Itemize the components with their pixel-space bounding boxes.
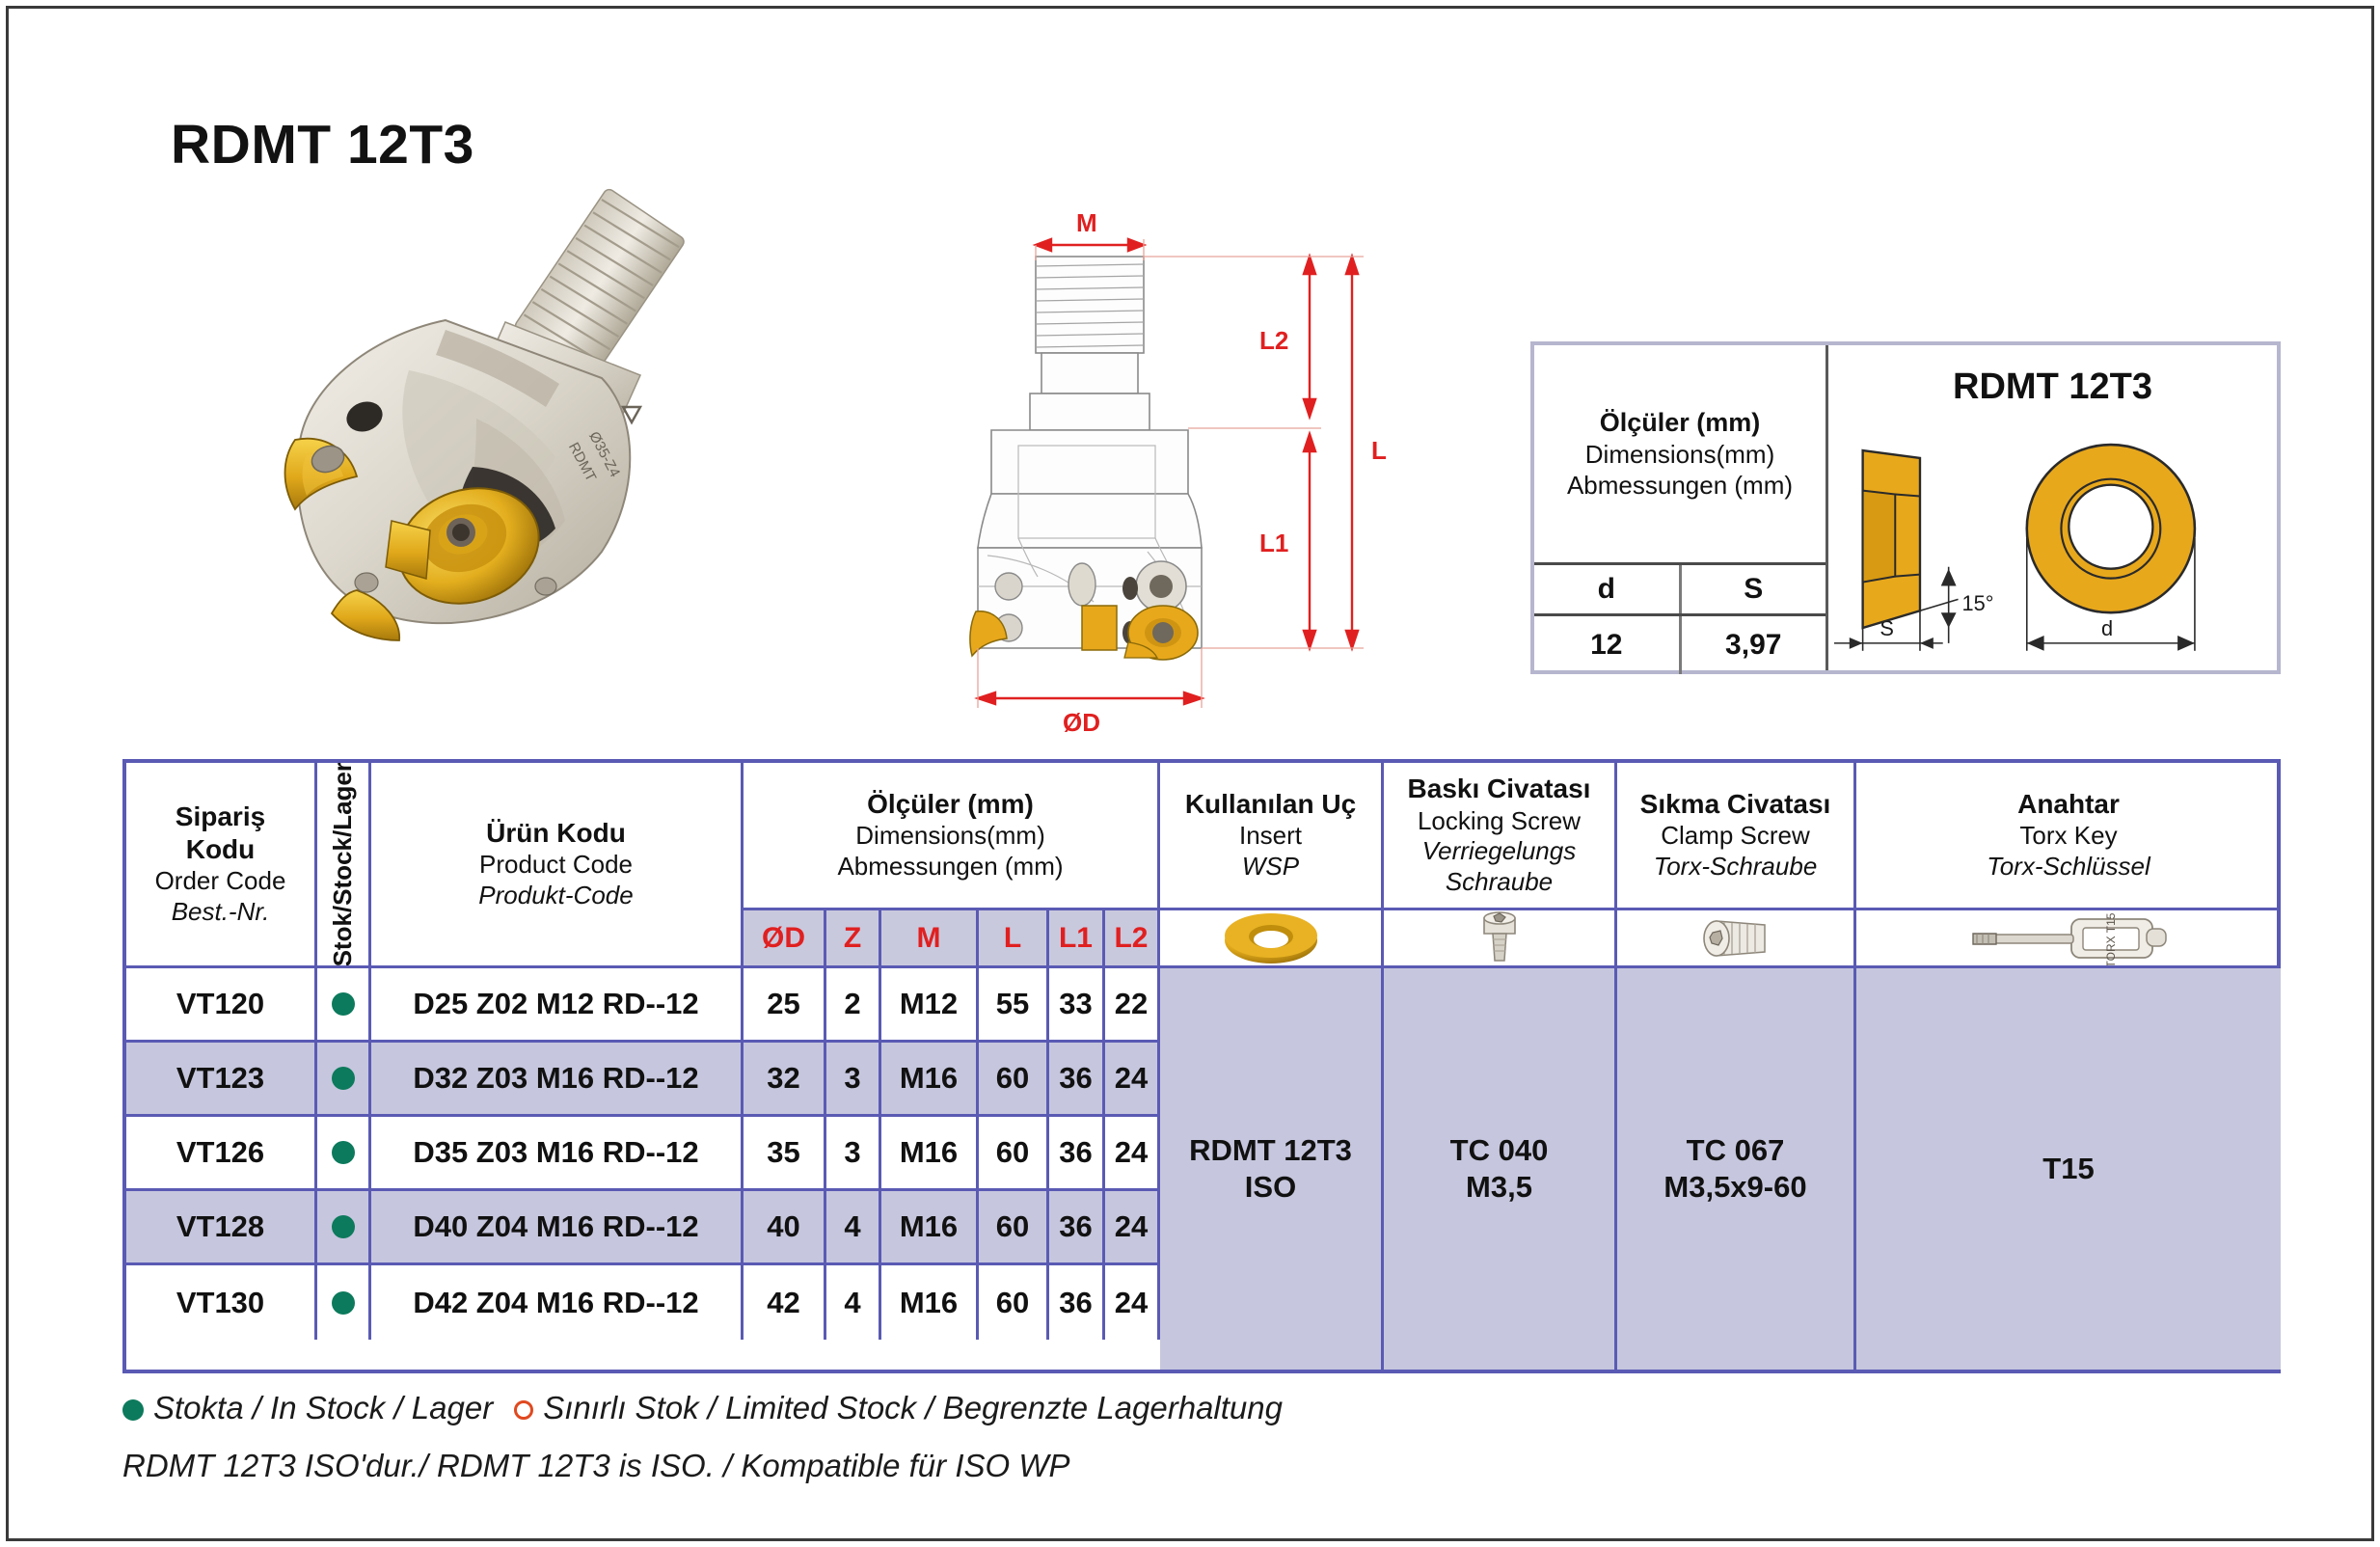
table-row: VT128	[126, 1191, 317, 1265]
stock-dot	[332, 992, 355, 1016]
page-frame: RDMT 12T3	[6, 6, 2374, 1541]
table-row: VT120	[126, 968, 317, 1043]
table-row: 24	[1105, 1117, 1160, 1191]
table-row: D40 Z04 M16 RD--12	[371, 1191, 744, 1265]
table-row: 24	[1105, 1265, 1160, 1340]
insert-spec-header-tr: Ölçüler (mm)	[1600, 407, 1761, 439]
clamp-screw-icon	[1617, 910, 1856, 968]
technical-drawing: M L2 L1 L ØD	[959, 197, 1421, 746]
table-row: 36	[1049, 1117, 1105, 1191]
insert-figure-label-angle: 15°	[1962, 591, 1994, 615]
table-row: 25	[744, 968, 826, 1043]
limited-stock-dot-icon	[514, 1400, 533, 1420]
legend-note: RDMT 12T3 ISO'dur./ RDMT 12T3 is ISO. / …	[122, 1448, 1070, 1484]
merged-insert-value: RDMT 12T3 ISO	[1160, 968, 1384, 1370]
header-dimensions: Ölçüler (mm) Dimensions(mm) Abmessungen …	[744, 763, 1160, 910]
table-row: M12	[881, 968, 979, 1043]
table-row: VT130	[126, 1265, 317, 1340]
stock-dot	[332, 1067, 355, 1090]
table-row: M16	[881, 1117, 979, 1191]
table-row: 4	[826, 1265, 881, 1340]
insert-spec-val-s: 3,97	[1682, 616, 1826, 674]
table-row: 60	[979, 1265, 1049, 1340]
insert-figure-panel: RDMT 12T3 S	[1828, 345, 2277, 670]
insert-spec-box: Ölçüler (mm) Dimensions(mm) Abmessungen …	[1530, 341, 2281, 674]
table-row: D42 Z04 M16 RD--12	[371, 1265, 744, 1340]
table-row: 36	[1049, 1191, 1105, 1265]
insert-spec-header-en: Dimensions(mm)	[1585, 439, 1774, 470]
table-row: 2	[826, 968, 881, 1043]
product-table: Sipariş Kodu Order Code Best.-Nr. Stok/S…	[122, 759, 2281, 1373]
table-row: 60	[979, 1191, 1049, 1265]
table-row: 42	[744, 1265, 826, 1340]
header-stock: Stok/Stock/Lager	[317, 763, 371, 968]
table-row: 22	[1105, 968, 1160, 1043]
insert-spec-val-d: 12	[1534, 616, 1682, 674]
table-row: VT123	[126, 1043, 317, 1117]
subheader-l: L	[979, 910, 1049, 968]
table-row: 24	[1105, 1043, 1160, 1117]
drawing-label-l: L	[1371, 436, 1387, 465]
subheader-od: ØD	[744, 910, 826, 968]
table-row: 36	[1049, 1043, 1105, 1117]
subheader-l2: L2	[1105, 910, 1160, 968]
header-clamp-screw: Sıkma Civatası Clamp Screw Torx-Schraube	[1617, 763, 1856, 910]
stock-indicator	[317, 1265, 371, 1340]
insert-figure-label-d: d	[2101, 616, 2113, 640]
table-row: 24	[1105, 1191, 1160, 1265]
insert-spec-columns: d S	[1534, 562, 1826, 616]
insert-spec-col-d: d	[1534, 565, 1682, 613]
insert-icon	[1160, 910, 1384, 968]
legend-limited-stock: Sınırlı Stok / Limited Stock / Begrenzte…	[543, 1390, 1283, 1425]
torx-key-icon: TORX T15	[1856, 910, 2281, 968]
stock-indicator	[317, 1043, 371, 1117]
stock-indicator	[317, 968, 371, 1043]
table-row: VT126	[126, 1117, 317, 1191]
stock-dot	[332, 1141, 355, 1164]
table-row: 60	[979, 1117, 1049, 1191]
drawing-label-l1: L1	[1259, 529, 1288, 557]
subheader-z: Z	[826, 910, 881, 968]
legend-in-stock: Stokta / In Stock / Lager	[153, 1390, 493, 1425]
table-row: M16	[881, 1043, 979, 1117]
insert-spec-header: Ölçüler (mm) Dimensions(mm) Abmessungen …	[1534, 345, 1826, 562]
table-row: D32 Z03 M16 RD--12	[371, 1043, 744, 1117]
stock-indicator	[317, 1117, 371, 1191]
header-product-code: Ürün Kodu Product Code Produkt-Code	[371, 763, 744, 968]
page-title: RDMT 12T3	[171, 113, 474, 176]
drawing-label-m: M	[1076, 208, 1097, 237]
table-row: M16	[881, 1191, 979, 1265]
in-stock-dot-icon	[122, 1399, 144, 1421]
legend-line-1: Stokta / In Stock / LagerSınırlı Stok / …	[122, 1390, 1283, 1426]
table-row: 3	[826, 1117, 881, 1191]
merged-clamp-screw-value: TC 067 M3,5x9-60	[1617, 968, 1856, 1370]
table-row: 33	[1049, 968, 1105, 1043]
insert-spec-table: Ölçüler (mm) Dimensions(mm) Abmessungen …	[1534, 345, 1828, 670]
product-photo: Ø35-Z4 RDMT	[187, 177, 785, 703]
stock-indicator	[317, 1191, 371, 1265]
svg-text:TORX T15: TORX T15	[2104, 912, 2118, 965]
table-row: 40	[744, 1191, 826, 1265]
table-row: 55	[979, 968, 1049, 1043]
stock-dot	[332, 1215, 355, 1238]
table-row: 3	[826, 1043, 881, 1117]
insert-spec-values: 12 3,97	[1534, 616, 1826, 674]
insert-figure-title: RDMT 12T3	[1828, 366, 2277, 408]
table-row: 4	[826, 1191, 881, 1265]
header-locking-screw: Baskı Civatası Locking Screw Verriegelun…	[1384, 763, 1617, 910]
table-row: 35	[744, 1117, 826, 1191]
header-insert: Kullanılan Uç Insert WSP	[1160, 763, 1384, 910]
header-order-code: Sipariş Kodu Order Code Best.-Nr.	[126, 763, 317, 968]
insert-spec-col-s: S	[1682, 565, 1826, 613]
subheader-l1: L1	[1049, 910, 1105, 968]
drawing-label-od: ØD	[1063, 708, 1100, 737]
table-row: 36	[1049, 1265, 1105, 1340]
locking-screw-icon	[1384, 910, 1617, 968]
merged-torx-key-value: T15	[1856, 968, 2281, 1370]
table-row: D35 Z03 M16 RD--12	[371, 1117, 744, 1191]
header-torx-key: Anahtar Torx Key Torx-Schlüssel	[1856, 763, 2281, 910]
drawing-label-l2: L2	[1259, 326, 1288, 355]
table-row: D25 Z02 M12 RD--12	[371, 968, 744, 1043]
merged-locking-screw-value: TC 040 M3,5	[1384, 968, 1617, 1370]
insert-spec-header-de: Abmessungen (mm)	[1567, 470, 1793, 501]
table-row: M16	[881, 1265, 979, 1340]
table-row: 32	[744, 1043, 826, 1117]
table-row: 60	[979, 1043, 1049, 1117]
subheader-m: M	[881, 910, 979, 968]
stock-dot	[332, 1291, 355, 1315]
insert-figure: S 15°	[1828, 422, 2277, 664]
